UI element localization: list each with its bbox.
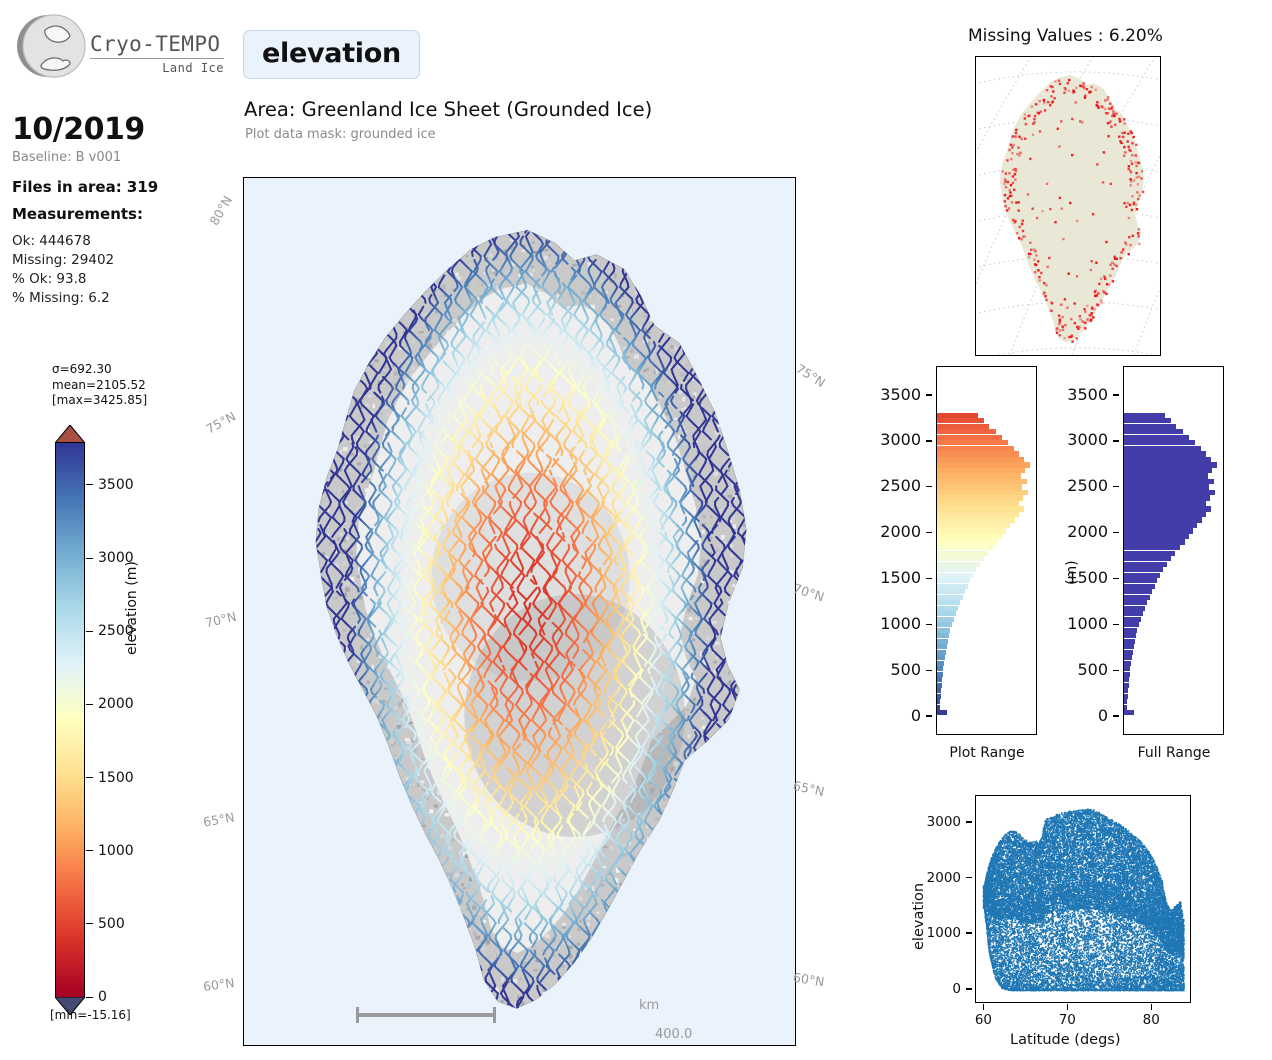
colorbar-gradient: [55, 442, 85, 998]
colorbar-extend-top: [55, 425, 85, 443]
histogram-bar: [937, 650, 946, 655]
histogram-bar: [1124, 457, 1211, 462]
histogram-bar: [937, 545, 993, 550]
histogram-bar: [937, 589, 965, 594]
scatter-xtick: 60: [963, 1004, 1003, 1028]
missing-values-title: Missing Values : 6.20%: [968, 26, 1163, 46]
histogram-bar: [1124, 551, 1175, 556]
colorbar-tick: 1000: [86, 843, 134, 859]
histogram-bar: [1124, 523, 1197, 528]
brand-name: Cryo-TEMPO: [90, 32, 240, 56]
histogram-bar: [1124, 418, 1171, 423]
histogram-bar: [937, 694, 941, 699]
histogram-bar: [1124, 694, 1128, 699]
full-range-histogram[interactable]: [1123, 366, 1224, 735]
histogram-bar: [937, 628, 950, 633]
histogram-bar: [937, 413, 978, 418]
histogram-bar: [1124, 517, 1202, 522]
histogram-bar: [1124, 501, 1206, 506]
histogram-bar: [1124, 628, 1137, 633]
histogram-bar: [1124, 666, 1130, 671]
colorbar: [55, 425, 85, 1015]
histogram-bar: [937, 672, 943, 677]
histogram-bar: [1124, 683, 1129, 688]
brand-logo: Cryo-TEMPO Land Ice: [12, 8, 232, 88]
histogram-ytick: 1000: [1067, 614, 1119, 633]
histogram-bar: [1124, 424, 1176, 429]
histogram-bar: [1124, 562, 1167, 567]
histogram-bar: [937, 666, 943, 671]
histogram-bar: [937, 473, 1021, 478]
histogram-bar: [937, 595, 963, 600]
histogram-bar: [1124, 468, 1212, 473]
colorbar-tick: 2000: [86, 696, 134, 712]
map-scalebar-unit: km: [639, 998, 659, 1013]
histogram-ytick: 0: [911, 706, 932, 725]
brand-rule: [90, 58, 224, 59]
histogram-bar: [937, 655, 945, 660]
histogram-bar: [937, 424, 989, 429]
histogram-bar: [937, 584, 968, 589]
measurements-heading: Measurements:: [12, 205, 143, 223]
histogram-bar: [937, 462, 1030, 467]
colorbar-stats: σ=692.30 mean=2105.52 [max=3425.85]: [52, 362, 147, 409]
measurements-list: Ok: 444678 Missing: 29402 % Ok: 93.8 % M…: [12, 232, 114, 308]
histogram-bar: [937, 617, 954, 622]
colorbar-tick: 500: [86, 916, 125, 932]
histogram-bar: [1124, 705, 1127, 710]
histogram-bar: [1124, 567, 1163, 572]
histogram-bar: [937, 539, 998, 544]
histogram-bar: [937, 562, 980, 567]
histogram-bar: [1124, 573, 1160, 578]
histogram-bar: [937, 451, 1019, 456]
histogram-bar: [1124, 633, 1136, 638]
histogram-ytick: 2000: [1067, 522, 1119, 541]
histogram-bar: [1124, 677, 1129, 682]
histogram-bar: [1124, 534, 1189, 539]
histogram-bar: [1124, 440, 1195, 445]
histogram-bar: [937, 578, 970, 583]
colorbar-max: [max=3425.85]: [52, 393, 147, 409]
colorbar-tick: 1500: [86, 770, 134, 786]
histogram-bar: [1124, 451, 1206, 456]
map-lat-label-right: 75°N: [793, 361, 828, 390]
colorbar-tick: 3500: [86, 477, 134, 493]
histogram-bar: [1124, 446, 1201, 451]
globe-ice-sheets-icon: [12, 8, 88, 84]
colorbar-axis-label: elevation (m): [124, 561, 140, 655]
map-lat-label-right: 70°N: [791, 580, 826, 604]
histogram-bar: [937, 551, 988, 556]
plot-range-caption: Plot Range: [916, 745, 1058, 761]
histogram-bar: [1124, 512, 1206, 517]
map-scalebar-value: 400.0: [655, 1027, 692, 1042]
full-range-yaxis: 0500100015002000250030003500: [1067, 366, 1119, 735]
colorbar-mean: mean=2105.52: [52, 378, 147, 394]
histogram-bar: [937, 699, 940, 704]
histogram-bar: [937, 490, 1028, 495]
histogram-bar: [1124, 462, 1217, 467]
histogram-bar: [1124, 661, 1131, 666]
histogram-bar: [937, 484, 1022, 489]
histogram-bar: [1124, 622, 1139, 627]
map-scalebar: [356, 1013, 496, 1017]
sidebar: Cryo-TEMPO Land Ice 10/2019 Baseline: B …: [0, 0, 240, 1060]
histogram-bar: [937, 633, 949, 638]
main-map-canvas: [244, 178, 795, 1045]
histogram-bar: [937, 457, 1024, 462]
map-lat-label-right: 60°N: [792, 970, 825, 990]
scatter-ytick: 3000: [927, 814, 972, 830]
histogram-bar: [1124, 644, 1134, 649]
elevation-latitude-scatter[interactable]: [975, 795, 1191, 1003]
histogram-bar: [1124, 556, 1171, 561]
histogram-bar: [937, 495, 1023, 500]
histogram-bar: [937, 611, 956, 616]
full-range-unit-label: (m): [1064, 560, 1080, 585]
main-map-panel[interactable]: [243, 177, 796, 1046]
histogram-bar: [937, 567, 976, 572]
histogram-ytick: 2500: [880, 476, 932, 495]
histogram-bar: [1124, 600, 1147, 605]
histogram-bar: [1124, 413, 1165, 418]
brand-text: Cryo-TEMPO Land Ice: [90, 32, 240, 75]
measurement-item: Ok: 444678: [12, 232, 114, 251]
histogram-bar: [937, 512, 1019, 517]
plot-range-yaxis: 0500100015002000250030003500: [880, 366, 932, 735]
histogram-bar: [937, 523, 1010, 528]
histogram-bar: [937, 683, 942, 688]
files-in-area-label: Files in area: 319: [12, 178, 158, 196]
scatter-xtick: 80: [1131, 1004, 1171, 1028]
histogram-ytick: 500: [890, 660, 932, 679]
histogram-ytick: 1500: [880, 568, 932, 587]
histogram-bar: [1124, 473, 1208, 478]
histogram-bar: [937, 479, 1027, 484]
scatter-canvas: [976, 796, 1190, 1002]
scatter-xlabel: Latitude (degs): [1010, 1032, 1121, 1048]
histogram-bar: [937, 573, 973, 578]
histogram-bar: [937, 677, 942, 682]
histogram-ytick: 500: [1077, 660, 1119, 679]
colorbar-sigma: σ=692.30: [52, 362, 147, 378]
histogram-bar: [1124, 639, 1135, 644]
histogram-bar: [1124, 539, 1185, 544]
scatter-ylabel: elevation: [911, 883, 927, 950]
histogram-bar: [1124, 710, 1134, 715]
histogram-ytick: 3500: [880, 385, 932, 404]
histogram-ytick: 3500: [1067, 385, 1119, 404]
area-title: Area: Greenland Ice Sheet (Grounded Ice): [244, 98, 652, 121]
histogram-bar: [1124, 435, 1189, 440]
histogram-bar: [937, 556, 984, 561]
histogram-bar: [1124, 479, 1214, 484]
histogram-bar: [937, 517, 1015, 522]
scatter-xaxis: 607080: [975, 1004, 1191, 1030]
histogram-ytick: 2500: [1067, 476, 1119, 495]
histogram-bar: [937, 688, 941, 693]
histogram-bar: [1124, 429, 1183, 434]
histogram-bar: [937, 644, 947, 649]
histogram-bar: [937, 622, 952, 627]
histogram-bar: [1124, 545, 1180, 550]
histogram-bar: [1124, 672, 1130, 677]
histogram-ytick: 3000: [1067, 430, 1119, 449]
measurement-item: % Missing: 6.2: [12, 289, 114, 308]
histogram-bar: [1124, 595, 1150, 600]
measurement-item: Missing: 29402: [12, 251, 114, 270]
histogram-bar: [937, 710, 947, 715]
variable-badge: elevation: [243, 30, 420, 79]
histogram-bar: [937, 429, 996, 434]
histogram-bar: [937, 501, 1019, 506]
full-range-caption: Full Range: [1103, 745, 1245, 761]
histogram-bar: [937, 661, 944, 666]
histogram-bar: [1124, 495, 1210, 500]
baseline-label: Baseline: B v001: [12, 150, 121, 165]
colorbar-min: [min=-15.16]: [50, 1008, 131, 1022]
histogram-bar: [937, 435, 1002, 440]
histogram-ytick: 1000: [880, 614, 932, 633]
scatter-ytick: 1000: [927, 925, 972, 941]
colorbar-tick: 0: [86, 989, 107, 1005]
plot-range-histogram[interactable]: [936, 366, 1037, 735]
scatter-ytick: 2000: [927, 870, 972, 886]
histogram-bar: [1124, 490, 1215, 495]
histogram-bar: [937, 506, 1024, 511]
histogram-bar: [1124, 650, 1133, 655]
missing-values-map[interactable]: [975, 56, 1161, 356]
date-label: 10/2019: [12, 112, 145, 147]
measurement-item: % Ok: 93.8: [12, 270, 114, 289]
missing-values-canvas: [976, 57, 1160, 355]
histogram-ytick: 0: [1098, 706, 1119, 725]
histogram-bar: [937, 606, 958, 611]
histogram-bar: [1124, 589, 1152, 594]
histogram-bar: [1124, 606, 1145, 611]
histogram-bar: [937, 440, 1008, 445]
colorbar-ticks: 3500300025002000150010005000: [86, 425, 196, 1025]
histogram-bar: [1124, 699, 1127, 704]
histogram-bar: [1124, 484, 1209, 489]
histogram-bar: [937, 528, 1006, 533]
map-lat-label-right: 65°N: [792, 778, 826, 799]
histogram-bar: [937, 418, 984, 423]
histogram-bar: [937, 468, 1025, 473]
histogram-bar: [1124, 578, 1157, 583]
histogram-bar: [1124, 528, 1193, 533]
brand-subtitle: Land Ice: [90, 61, 224, 75]
histogram-bar: [1124, 584, 1155, 589]
histogram-bar: [937, 534, 1002, 539]
histogram-bar: [937, 639, 948, 644]
scatter-ytick: 0: [952, 981, 972, 997]
scatter-xtick: 70: [1047, 1004, 1087, 1028]
histogram-bar: [937, 705, 940, 710]
histogram-ytick: 3000: [880, 430, 932, 449]
scatter-yaxis: 0100020003000: [920, 795, 972, 1003]
plot-mask-subtitle: Plot data mask: grounded ice: [245, 127, 436, 142]
histogram-bar: [1124, 617, 1141, 622]
histogram-bar: [937, 600, 960, 605]
histogram-bar: [1124, 688, 1128, 693]
histogram-bar: [1124, 506, 1211, 511]
histogram-bar: [1124, 611, 1143, 616]
histogram-bar: [1124, 655, 1132, 660]
histogram-bar: [937, 446, 1014, 451]
histogram-ytick: 2000: [880, 522, 932, 541]
